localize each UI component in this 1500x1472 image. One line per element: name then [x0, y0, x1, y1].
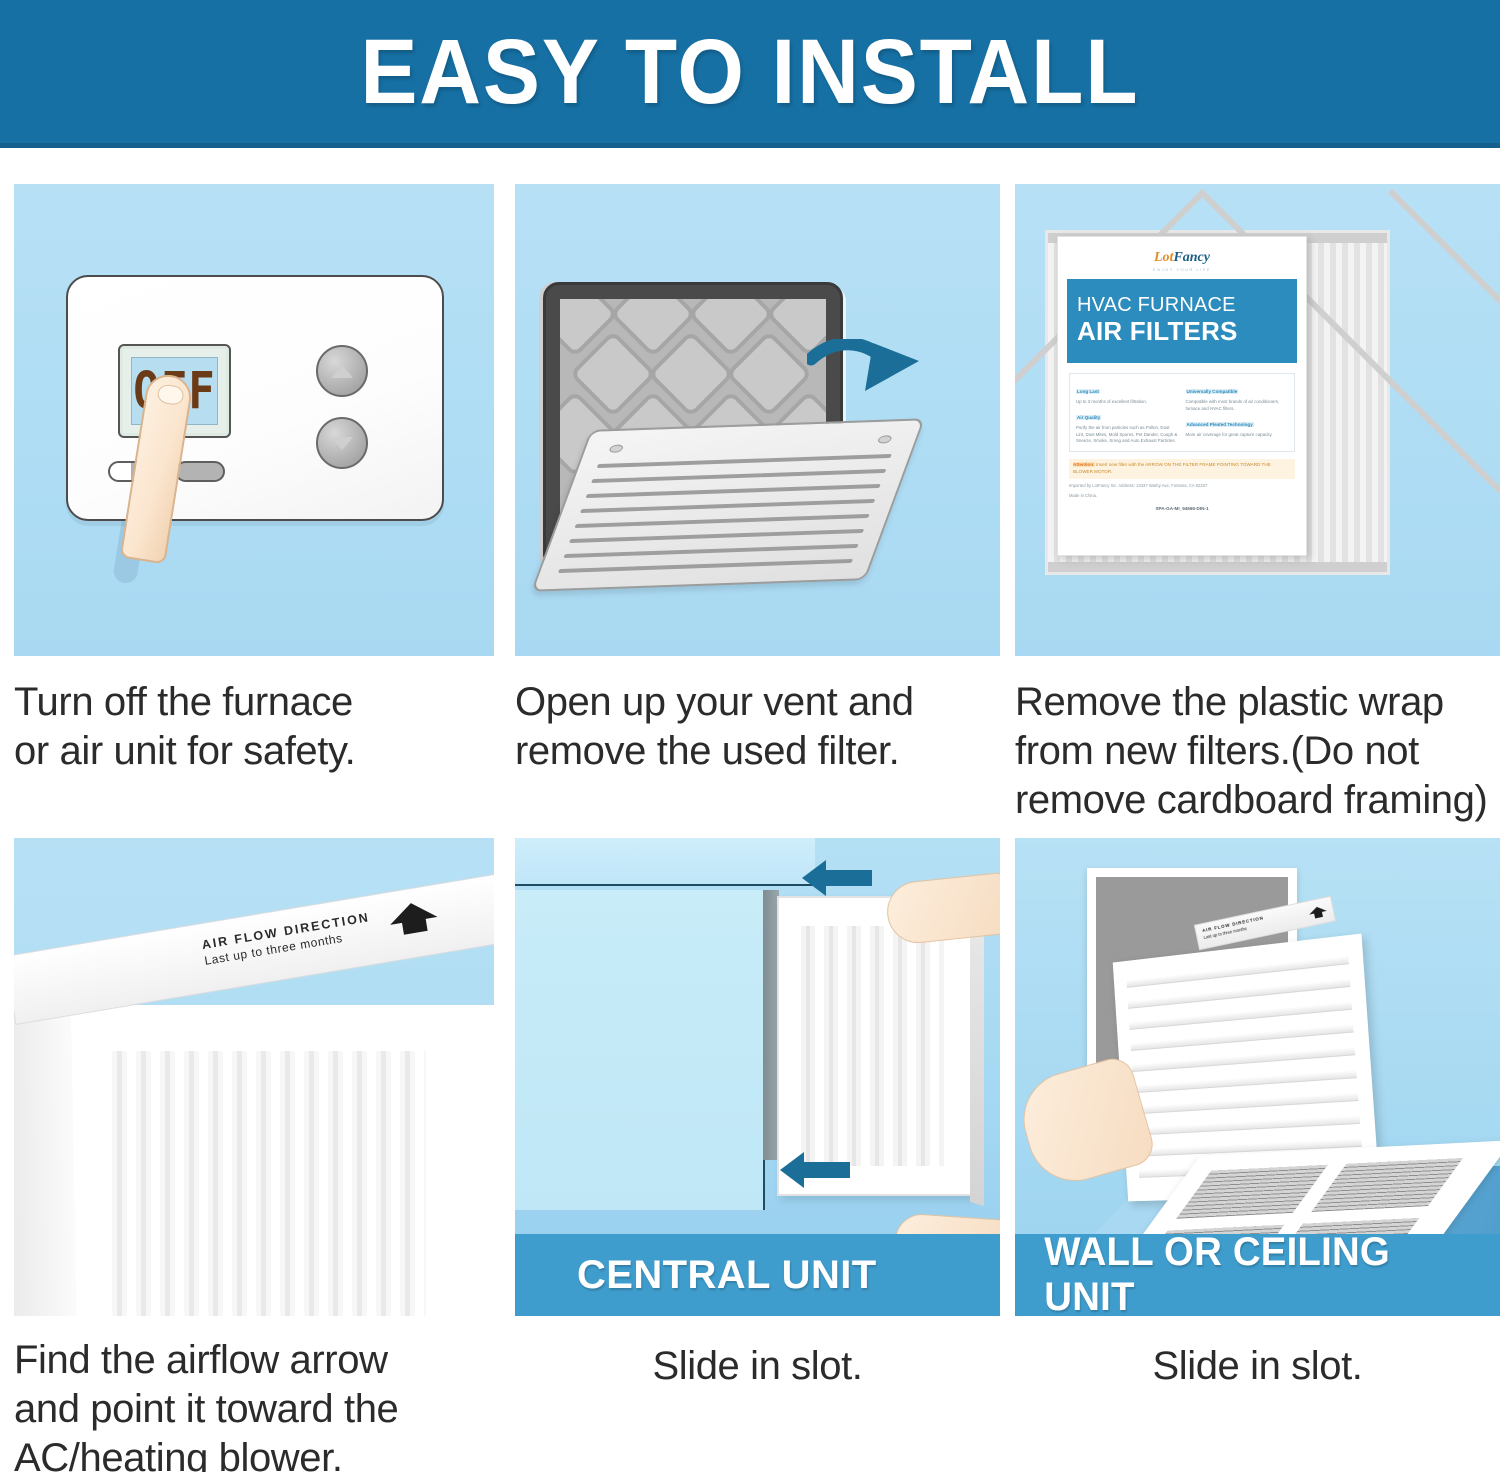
chevron-up-icon	[331, 365, 353, 378]
filter-side-edge	[970, 902, 984, 1207]
step-1-caption-line-1: Turn off the furnace	[14, 678, 494, 727]
thermostat: OFF	[66, 275, 444, 521]
package-attention-note: Attention: Insert new filter with the AR…	[1069, 459, 1295, 479]
step-6-illustration: AIR FLOW DIRECTION Last up to three mont…	[1015, 838, 1500, 1316]
step-3-illustration: LotFancy ENJOY YOUR LIFE HVAC FURNACE AI…	[1015, 184, 1500, 656]
package-sku: SPA-GA-MI_94565-DIN-1	[1058, 506, 1306, 511]
infographic-page: EASY TO INSTALL OFF	[0, 0, 1500, 1472]
step-6-caption: Slide in slot.	[1015, 1342, 1500, 1391]
step-1-illustration: OFF	[14, 184, 494, 656]
filter-package: LotFancy ENJOY YOUR LIFE HVAC FURNACE AI…	[1045, 230, 1390, 575]
thermostat-up-button[interactable]	[316, 345, 368, 397]
feature-body: More air coverage for great capture capa…	[1186, 432, 1289, 439]
step-5-caption: Slide in slot.	[515, 1342, 1000, 1391]
step-4-cell: AIR FLOW DIRECTION Last up to three mont…	[14, 838, 494, 1472]
step-4-illustration: AIR FLOW DIRECTION Last up to three mont…	[14, 838, 494, 1316]
step-2-cell: Open up your vent and remove the used fi…	[515, 184, 1000, 776]
filter-pleat-field	[797, 926, 944, 1166]
package-title-line-1: HVAC FURNACE	[1077, 295, 1287, 316]
step-5-caption-line-1: Slide in slot.	[515, 1342, 1000, 1391]
step-5-cell: CENTRAL UNIT Slide in slot.	[515, 838, 1000, 1391]
step-4-caption-line-2: and point it toward the	[14, 1385, 494, 1434]
arrow-left-bottom-icon	[778, 1150, 852, 1190]
feature-heading: Air Quality	[1076, 415, 1101, 420]
feature-heading: Advanced Pleated Technology	[1186, 422, 1254, 427]
step-3-caption-line-1: Remove the plastic wrap	[1015, 678, 1500, 727]
arrow-left-top-icon	[800, 858, 874, 898]
thermostat-power-switch[interactable]	[175, 461, 225, 482]
curved-arrow-right-icon	[807, 339, 927, 409]
feature-body: Purify the air from particles such as Po…	[1076, 425, 1179, 445]
chevron-down-icon	[331, 437, 353, 450]
step-3-caption-line-2: from new filters.(Do not	[1015, 727, 1500, 776]
screw-hole-right-icon	[877, 435, 893, 443]
central-unit-body	[515, 890, 765, 1210]
package-features: Long Last Up to 3 months of excellent fi…	[1069, 373, 1295, 451]
vent-cover-panel[interactable]	[531, 418, 925, 591]
attention-label: Attention:	[1073, 462, 1095, 467]
page-title: EASY TO INSTALL	[360, 26, 1139, 118]
package-label: LotFancy ENJOY YOUR LIFE HVAC FURNACE AI…	[1057, 236, 1307, 556]
step-6-cell: AIR FLOW DIRECTION Last up to three mont…	[1015, 838, 1500, 1391]
feature-column-left: Long Last Up to 3 months of excellent fi…	[1076, 380, 1179, 444]
filter-left-side	[14, 995, 77, 1316]
step-3-caption-line-3: remove cardboard framing)	[1015, 776, 1500, 825]
airflow-up-arrow-icon	[385, 897, 442, 941]
central-unit-banner-label: CENTRAL UNIT	[577, 1253, 877, 1298]
step-6-caption-line-1: Slide in slot.	[1015, 1342, 1500, 1391]
brand-logo: LotFancy	[1058, 250, 1306, 266]
feature-heading: Long Last	[1076, 389, 1100, 394]
package-title-line-2: AIR FILTERS	[1077, 318, 1287, 345]
step-2-caption-line-1: Open up your vent and	[515, 678, 1000, 727]
feature-body: Up to 3 months of excellent filtration.	[1076, 399, 1179, 406]
thermostat-down-button[interactable]	[316, 417, 368, 469]
screw-hole-left-icon	[608, 444, 624, 452]
filter-front-face	[14, 1005, 494, 1316]
step-4-caption-line-1: Find the airflow arrow	[14, 1336, 494, 1385]
brand-part-2: Fancy	[1173, 250, 1210, 265]
package-origin: Made in China.	[1069, 493, 1295, 500]
step-1-caption-line-2: or air unit for safety.	[14, 727, 494, 776]
brand-part-1: Lot	[1154, 250, 1173, 265]
package-address: Imported by LotFancy Inc. Address: 13337…	[1069, 483, 1295, 490]
step-4-caption-line-3: AC/heating blower.	[14, 1434, 494, 1472]
wall-ceiling-banner-label: WALL OR CEILING UNIT	[1044, 1230, 1490, 1316]
feature-body: Compatible with most brands of air condi…	[1186, 399, 1289, 412]
step-2-caption-line-2: remove the used filter.	[515, 727, 1000, 776]
step-1-caption: Turn off the furnace or air unit for saf…	[14, 678, 494, 776]
brand-tagline: ENJOY YOUR LIFE	[1058, 267, 1306, 272]
step-3-caption: Remove the plastic wrap from new filters…	[1015, 678, 1500, 824]
wall-ceiling-banner: WALL OR CEILING UNIT	[1015, 1234, 1500, 1316]
filter-pleat-field	[108, 1051, 426, 1316]
central-unit-duct-top	[515, 838, 815, 886]
step-3-cell: LotFancy ENJOY YOUR LIFE HVAC FURNACE AI…	[1015, 184, 1500, 824]
package-title-block: HVAC FURNACE AIR FILTERS	[1067, 279, 1297, 363]
airflow-arrow-icon	[1307, 904, 1329, 921]
attention-body: Insert new filter with the ARROW ON THE …	[1073, 462, 1271, 474]
central-unit-banner: CENTRAL UNIT	[515, 1234, 1000, 1316]
feature-heading: Universally Compatible	[1186, 389, 1239, 394]
header-banner: EASY TO INSTALL	[0, 0, 1500, 148]
step-2-caption: Open up your vent and remove the used fi…	[515, 678, 1000, 776]
step-5-illustration: CENTRAL UNIT	[515, 838, 1000, 1316]
step-4-caption: Find the airflow arrow and point it towa…	[14, 1336, 494, 1472]
filter-top-edge-label: AIR FLOW DIRECTION Last up to three mont…	[14, 870, 494, 1025]
step-1-cell: OFF Turn off the furnace or air unit for…	[14, 184, 494, 776]
step-2-illustration	[515, 184, 1000, 656]
feature-column-right: Universally Compatible Compatible with m…	[1186, 380, 1289, 444]
